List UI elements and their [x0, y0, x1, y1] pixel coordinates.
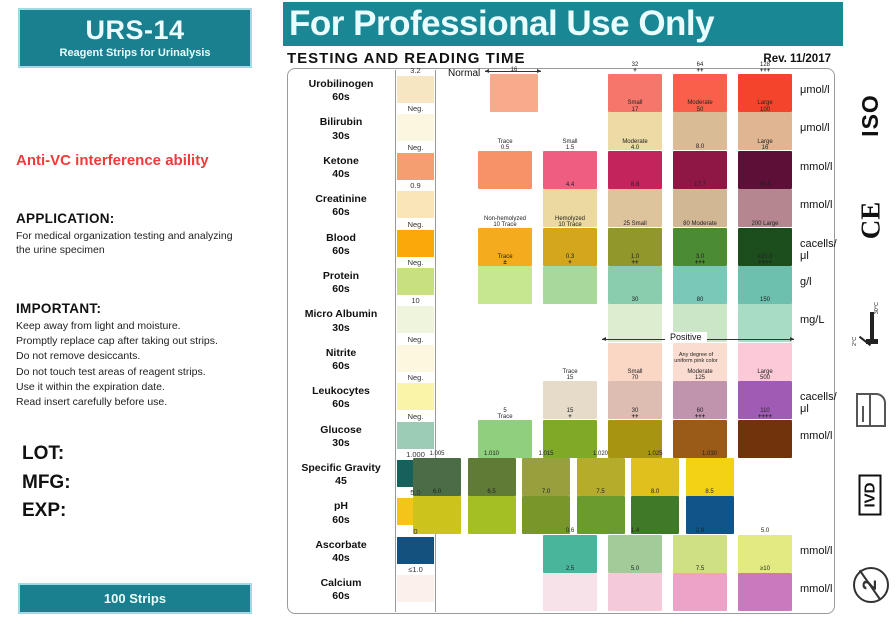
- swatch-label: 1.010: [468, 451, 516, 457]
- reference-color-pad: [397, 345, 434, 372]
- color-swatch: [543, 266, 597, 304]
- reference-color-pad: [397, 537, 434, 564]
- ce-mark-icon: CE: [845, 175, 896, 265]
- test-label: Creatinine: [287, 193, 395, 206]
- reference-pad-calcium: ≤1.0: [397, 564, 434, 602]
- reference-color-pad: [397, 230, 434, 257]
- swatch-label: 4.4: [543, 182, 597, 188]
- color-chart-panel: For Professional Use Only TESTING AND RE…: [283, 0, 845, 636]
- chart-divider-left: [395, 70, 396, 612]
- reference-color-pad: [397, 575, 434, 602]
- important-line: Use it within the expiration date.: [16, 380, 266, 395]
- swatch-label: 8.8: [608, 182, 662, 188]
- application-line-2: the urine specimen: [16, 243, 256, 257]
- test-time: 40s: [287, 552, 395, 565]
- reference-value: 10: [397, 295, 434, 306]
- swatch-label: Small1.5: [543, 139, 597, 152]
- reference-pad-creatinine: 0.9: [397, 180, 434, 218]
- swatch-label: 2.5: [543, 566, 597, 572]
- swatch-label: 200 Large: [738, 221, 792, 227]
- test-name-creatinine: Creatinine60s: [287, 193, 395, 219]
- color-swatch: [738, 304, 792, 342]
- reference-pad-protein: Neg.: [397, 257, 434, 295]
- reference-value: Neg.: [397, 142, 434, 153]
- swatch-label: 1.020: [577, 451, 625, 457]
- color-swatch: [673, 573, 727, 611]
- mfg-label: MFG:: [22, 469, 71, 498]
- swatch-label: 3.0+++: [673, 254, 727, 267]
- important-line: Read insert carefully before use.: [16, 395, 266, 410]
- important-line: Promptly replace cap after taking out st…: [16, 334, 266, 349]
- normal-annotation: Normal: [448, 68, 480, 79]
- anti-vc-claim: Anti-VC interference ability: [16, 152, 266, 169]
- test-name-bilirubin: Bilirubin30s: [287, 116, 395, 142]
- test-name-micro-albumin: Micro Albumin30s: [287, 308, 395, 334]
- swatch-label: Large500: [738, 369, 792, 382]
- reference-value: 3.2: [397, 65, 434, 76]
- color-swatch: [468, 496, 516, 534]
- iso-icon: ISO: [845, 70, 896, 160]
- temp-low-label: 2°C: [852, 337, 858, 346]
- test-name-ketone: Ketone40s: [287, 155, 395, 181]
- swatch-label: 80 Moderate: [673, 221, 727, 227]
- test-name-specific-gravity: Specific Gravity45: [287, 462, 395, 488]
- professional-use-label: For Professional Use Only: [283, 4, 714, 44]
- swatch-label: ≥20.0++++: [738, 254, 792, 267]
- swatch-label: 1.015: [522, 451, 570, 457]
- test-label: Specific Gravity: [287, 462, 395, 475]
- unit-label: cacells/μl: [800, 391, 845, 415]
- iso-label: ISO: [857, 94, 883, 137]
- test-name-urobilinogen: Urobilinogen60s: [287, 78, 395, 104]
- reference-color-pad: [397, 306, 434, 333]
- test-label: Micro Albumin: [287, 308, 395, 321]
- do-not-reuse-icon: 2: [845, 550, 896, 620]
- swatch-label: 128+++: [738, 62, 792, 75]
- swatch-label: 32+: [608, 62, 662, 75]
- swatch-label: Moderate125: [673, 369, 727, 382]
- swatch-label: 1.0++: [608, 254, 662, 267]
- test-time: 60s: [287, 283, 395, 296]
- brand-banner: URS-14 Reagent Strips for Urinalysis: [18, 8, 252, 68]
- swatch-label: 26.5: [738, 182, 792, 188]
- swatch-label: Large16: [738, 139, 792, 152]
- important-line: Keep away from light and moisture.: [16, 319, 266, 334]
- swatch-label: 1.025: [631, 451, 679, 457]
- application-line-1: For medical organization testing and ana…: [16, 229, 256, 243]
- test-name-nitrite: Nitrite60s: [287, 347, 395, 373]
- ivd-icon: IVD: [845, 460, 896, 530]
- test-time: 60s: [287, 245, 395, 258]
- color-swatch: [543, 573, 597, 611]
- swatch-label: 8.0: [631, 489, 679, 495]
- strip-count-banner: 100 Strips: [18, 583, 252, 614]
- color-swatch: [490, 74, 538, 112]
- swatch-label: ≥10: [738, 566, 792, 572]
- reference-pad-nitrite: Neg.: [397, 334, 434, 372]
- product-subtitle: Reagent Strips for Urinalysis: [60, 48, 211, 59]
- unit-label: g/l: [800, 276, 812, 288]
- reference-color-pad: [397, 191, 434, 218]
- swatch-label: Small17: [608, 100, 662, 113]
- swatch-label: 6.0: [413, 489, 461, 495]
- reference-pad-ascorbate: 0: [397, 526, 434, 564]
- reference-pad-urobilinogen: 3.2: [397, 65, 434, 103]
- test-label: Ketone: [287, 155, 395, 168]
- test-name-protein: Protein60s: [287, 270, 395, 296]
- swatch-label: 15+: [543, 408, 597, 421]
- unit-label: mmol/l: [800, 161, 832, 173]
- test-label: Urobilinogen: [287, 78, 395, 91]
- unit-label: mmol/l: [800, 430, 832, 442]
- reference-color-pad: [397, 268, 434, 295]
- swatch-label: 1.4: [608, 528, 662, 534]
- reference-value: 0: [397, 526, 434, 537]
- lot-label: LOT:: [22, 440, 71, 469]
- swatch-label: 150: [738, 297, 792, 303]
- color-swatch: [738, 573, 792, 611]
- reference-value: 0.9: [397, 180, 434, 191]
- reference-value: Neg.: [397, 103, 434, 114]
- test-time: 40s: [287, 168, 395, 181]
- swatch-label: 7.5: [577, 489, 625, 495]
- test-label: Nitrite: [287, 347, 395, 360]
- test-time: 30s: [287, 130, 395, 143]
- ce-label: CE: [855, 201, 885, 239]
- swatch-label: 1.030: [686, 451, 734, 457]
- swatch-label: Trace±: [478, 254, 532, 267]
- swatch-label: 2.8: [673, 528, 727, 534]
- test-name-blood: Blood60s: [287, 232, 395, 258]
- swatch-label: Small70: [608, 369, 662, 382]
- reference-color-pad: [397, 153, 434, 180]
- consult-instructions-icon: [845, 375, 896, 445]
- color-swatch: [478, 151, 532, 189]
- unit-label: mg/L: [800, 314, 824, 326]
- reference-color-pad: [397, 114, 434, 141]
- reference-pad-micro-albumin: 10: [397, 295, 434, 333]
- reference-pad-blood: Neg.: [397, 219, 434, 257]
- swatch-label: 80: [673, 297, 727, 303]
- test-name-calcium: Calcium60s: [287, 577, 395, 603]
- application-text: For medical organization testing and ana…: [16, 229, 256, 257]
- reference-pad-ketone: Neg.: [397, 142, 434, 180]
- important-line: Do not touch test areas of reagent strip…: [16, 365, 266, 380]
- swatch-label: 110++++: [738, 408, 792, 421]
- swatch-label: Moderate4.0: [608, 139, 662, 152]
- swatch-label: 5.0: [608, 566, 662, 572]
- test-time: 60s: [287, 360, 395, 373]
- test-time: 30s: [287, 437, 395, 450]
- reference-pad-glucose: Neg.: [397, 411, 434, 449]
- test-time: 45: [287, 475, 395, 488]
- professional-use-banner: For Professional Use Only: [283, 2, 843, 46]
- product-title: URS-14: [85, 17, 184, 44]
- ivd-label: IVD: [858, 474, 881, 515]
- color-swatch: [608, 304, 662, 342]
- swatch-label: 7.5: [673, 566, 727, 572]
- reference-color-pad: [397, 76, 434, 103]
- swatch-label: 0.3+: [543, 254, 597, 267]
- test-time: 60s: [287, 206, 395, 219]
- swatch-label: 8.5: [686, 489, 734, 495]
- swatch-label: 5Trace: [478, 408, 532, 421]
- product-info-panel: URS-14 Reagent Strips for Urinalysis Ant…: [0, 0, 283, 636]
- test-label: Glucose: [287, 424, 395, 437]
- test-time: 60s: [287, 91, 395, 104]
- test-label: pH: [287, 500, 395, 513]
- reference-value: Neg.: [397, 411, 434, 422]
- batch-fields: LOT: MFG: EXP:: [22, 440, 71, 526]
- swatch-label: Trace0.5: [478, 139, 532, 152]
- test-name-glucose: Glucose30s: [287, 424, 395, 450]
- symbol-column: ISO CE 2°C 30°C IVD 2: [845, 0, 896, 636]
- exp-label: EXP:: [22, 497, 71, 526]
- test-time: 60s: [287, 590, 395, 603]
- swatch-label: 8.0: [673, 144, 727, 150]
- swatch-label: Large100: [738, 100, 792, 113]
- no-reuse-label: 2: [860, 580, 882, 591]
- unit-label: mmol/l: [800, 199, 832, 211]
- swatch-label: 7.0: [522, 489, 570, 495]
- unit-label: μmol/l: [800, 122, 830, 134]
- test-label: Bilirubin: [287, 116, 395, 129]
- test-label: Leukocytes: [287, 385, 395, 398]
- unit-label: mmol/l: [800, 583, 832, 595]
- swatch-label: 5.0: [738, 528, 792, 534]
- swatch-label: Hemolyzed10 Trace: [543, 216, 597, 229]
- color-swatch: [608, 573, 662, 611]
- reference-value: Neg.: [397, 219, 434, 230]
- reference-pad-leukocytes: Neg.: [397, 372, 434, 410]
- test-label: Calcium: [287, 577, 395, 590]
- reference-color-pad: [397, 383, 434, 410]
- important-heading: IMPORTANT:: [16, 301, 101, 316]
- swatch-label: 1.005: [413, 451, 461, 457]
- test-name-ascorbate: Ascorbate40s: [287, 539, 395, 565]
- test-label: Ascorbate: [287, 539, 395, 552]
- color-swatch: [478, 266, 532, 304]
- swatch-label: 6.5: [468, 489, 516, 495]
- unit-label: cacells/μl: [800, 238, 845, 262]
- reference-color-pad: [397, 422, 434, 449]
- strip-count-label: 100 Strips: [104, 591, 166, 606]
- test-label: Blood: [287, 232, 395, 245]
- range-indicator: [485, 71, 541, 72]
- positive-label: Positive: [665, 332, 707, 342]
- test-name-ph: pH60s: [287, 500, 395, 526]
- swatch-label: Non-hemolyzed10 Trace: [478, 216, 532, 229]
- test-time: 30s: [287, 322, 395, 335]
- unit-label: mmol/l: [800, 545, 832, 557]
- reference-value: Neg.: [397, 257, 434, 268]
- swatch-label: 25 Small: [608, 221, 662, 227]
- reference-value: ≤1.0: [397, 564, 434, 575]
- swatch-label: 17.7: [673, 182, 727, 188]
- reference-value: Neg.: [397, 372, 434, 383]
- test-time: 60s: [287, 514, 395, 527]
- important-line: Do not remove desiccants.: [16, 349, 266, 364]
- important-text: Keep away from light and moisture. Promp…: [16, 319, 266, 410]
- swatch-label: 64++: [673, 62, 727, 75]
- color-swatch: [738, 420, 792, 458]
- swatch-label: Trace15: [543, 369, 597, 382]
- storage-temperature-icon: 2°C 30°C: [845, 285, 896, 365]
- test-time: 60s: [287, 398, 395, 411]
- swatch-label: 60+++: [673, 408, 727, 421]
- swatch-label: 30++: [608, 408, 662, 421]
- application-heading: APPLICATION:: [16, 211, 115, 226]
- reference-value: Neg.: [397, 334, 434, 345]
- test-label: Protein: [287, 270, 395, 283]
- positive-sublabel: Any degree ofuniform pink color: [651, 352, 741, 365]
- temp-high-label: 30°C: [874, 302, 880, 314]
- swatch-label: Moderate50: [673, 100, 727, 113]
- reference-pad-bilirubin: Neg.: [397, 103, 434, 141]
- swatch-label: 30: [608, 297, 662, 303]
- unit-label: μmol/l: [800, 84, 830, 96]
- test-name-leukocytes: Leukocytes60s: [287, 385, 395, 411]
- swatch-label: 0.6: [543, 528, 597, 534]
